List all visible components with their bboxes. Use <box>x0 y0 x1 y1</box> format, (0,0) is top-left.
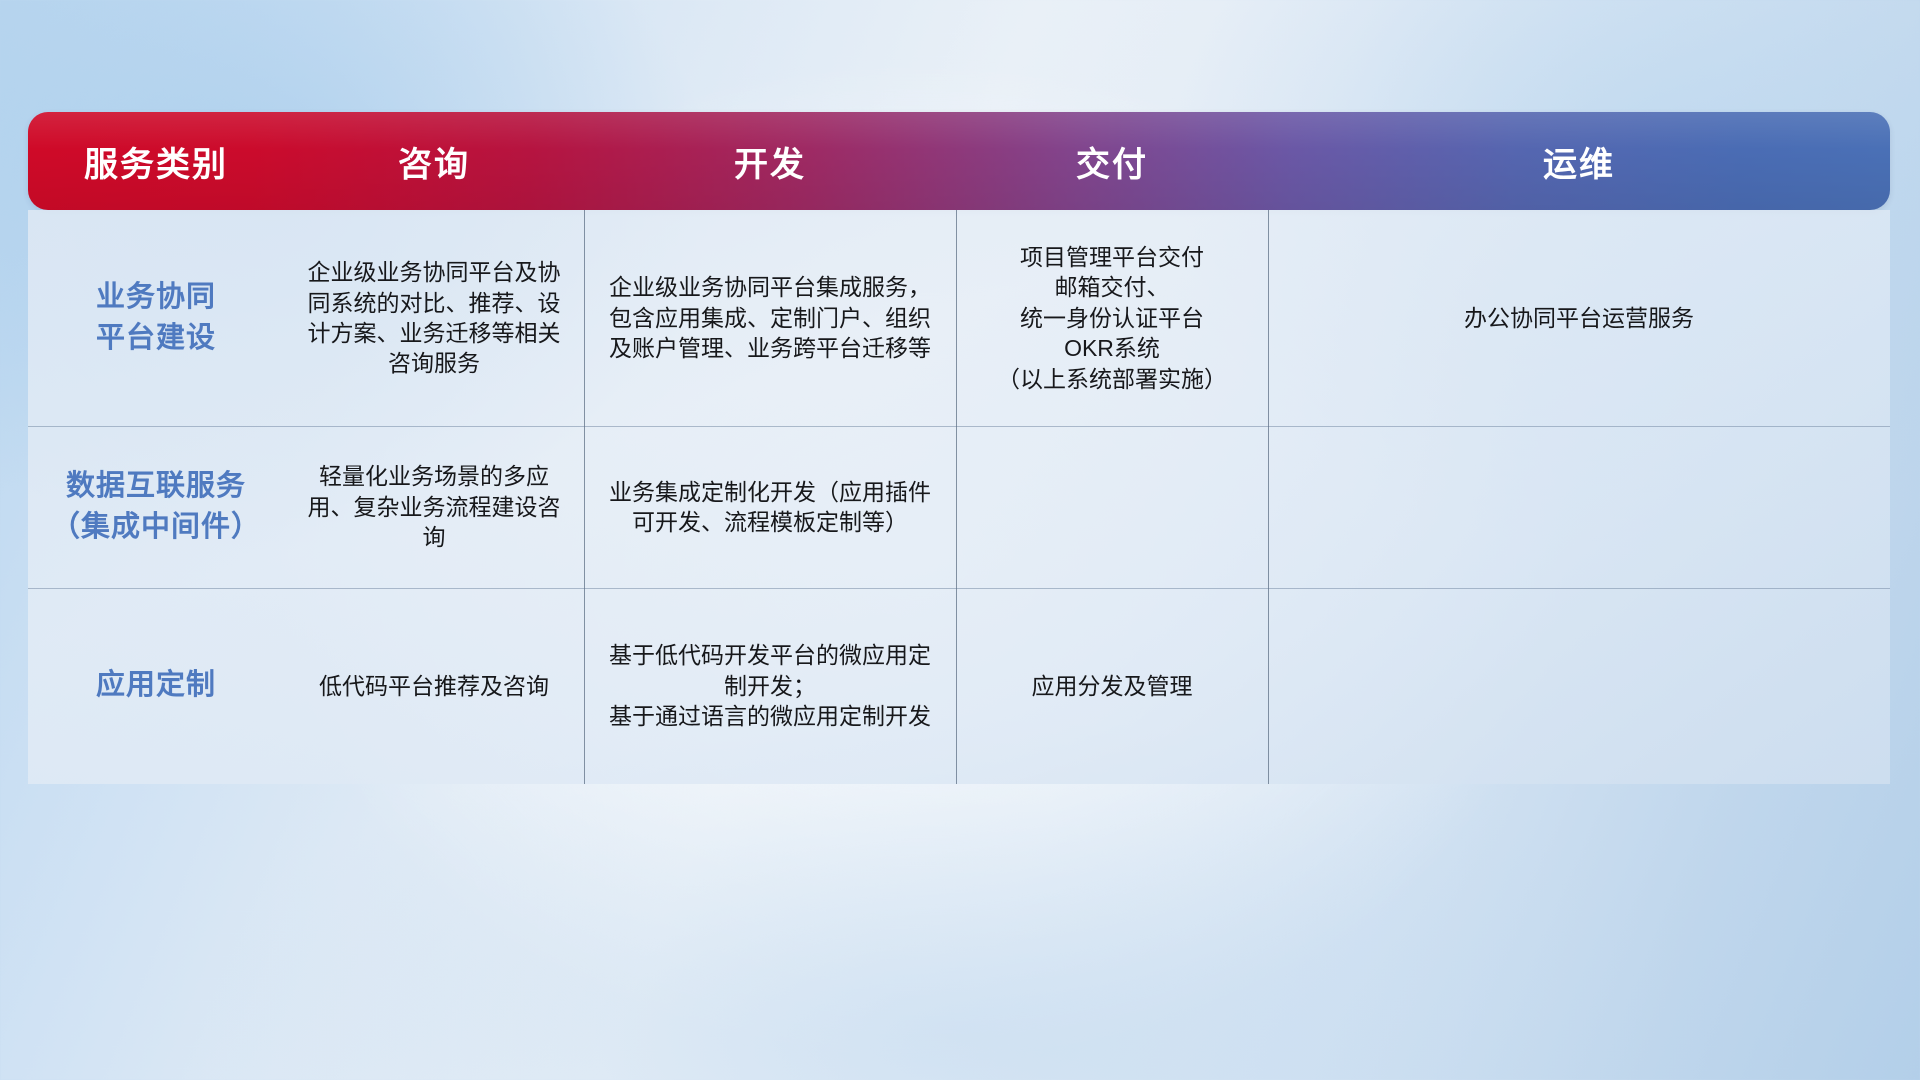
cell-consulting: 轻量化业务场景的多应用、复杂业务流程建设咨询 <box>284 426 584 588</box>
cell-development: 业务集成定制化开发（应用插件可开发、流程模板定制等） <box>584 426 956 588</box>
cell-operations <box>1268 426 1890 588</box>
column-header-development: 开发 <box>584 137 956 186</box>
column-header-category: 服务类别 <box>28 137 284 186</box>
cell-delivery: 应用分发及管理 <box>956 588 1268 784</box>
row-category-label: 数据互联服务 （集成中间件） <box>28 426 284 588</box>
cell-consulting: 低代码平台推荐及咨询 <box>284 588 584 784</box>
row-category-label: 业务协同 平台建设 <box>28 210 284 426</box>
cell-delivery <box>956 426 1268 588</box>
service-matrix-table: 服务类别 咨询 开发 交付 运维 业务协同 平台建设 企业级业务协同平台及协同系… <box>28 112 1890 784</box>
cell-consulting: 企业级业务协同平台及协同系统的对比、推荐、设计方案、业务迁移等相关咨询服务 <box>284 210 584 426</box>
table-body: 业务协同 平台建设 企业级业务协同平台及协同系统的对比、推荐、设计方案、业务迁移… <box>28 210 1890 784</box>
column-header-operations: 运维 <box>1268 137 1890 186</box>
cell-development: 基于低代码开发平台的微应用定制开发； 基于通过语言的微应用定制开发 <box>584 588 956 784</box>
cell-development: 企业级业务协同平台集成服务，包含应用集成、定制门户、组织及账户管理、业务跨平台迁… <box>584 210 956 426</box>
column-header-delivery: 交付 <box>956 137 1268 186</box>
table-row: 数据互联服务 （集成中间件） 轻量化业务场景的多应用、复杂业务流程建设咨询 业务… <box>28 426 1890 588</box>
column-header-consulting: 咨询 <box>284 137 584 186</box>
cell-operations <box>1268 588 1890 784</box>
table-row: 应用定制 低代码平台推荐及咨询 基于低代码开发平台的微应用定制开发； 基于通过语… <box>28 588 1890 784</box>
cell-operations: 办公协同平台运营服务 <box>1268 210 1890 426</box>
row-category-label: 应用定制 <box>28 588 284 784</box>
cell-delivery: 项目管理平台交付 邮箱交付、 统一身份认证平台 OKR系统 （以上系统部署实施） <box>956 210 1268 426</box>
table-header-row: 服务类别 咨询 开发 交付 运维 <box>28 112 1890 210</box>
table-row: 业务协同 平台建设 企业级业务协同平台及协同系统的对比、推荐、设计方案、业务迁移… <box>28 210 1890 426</box>
